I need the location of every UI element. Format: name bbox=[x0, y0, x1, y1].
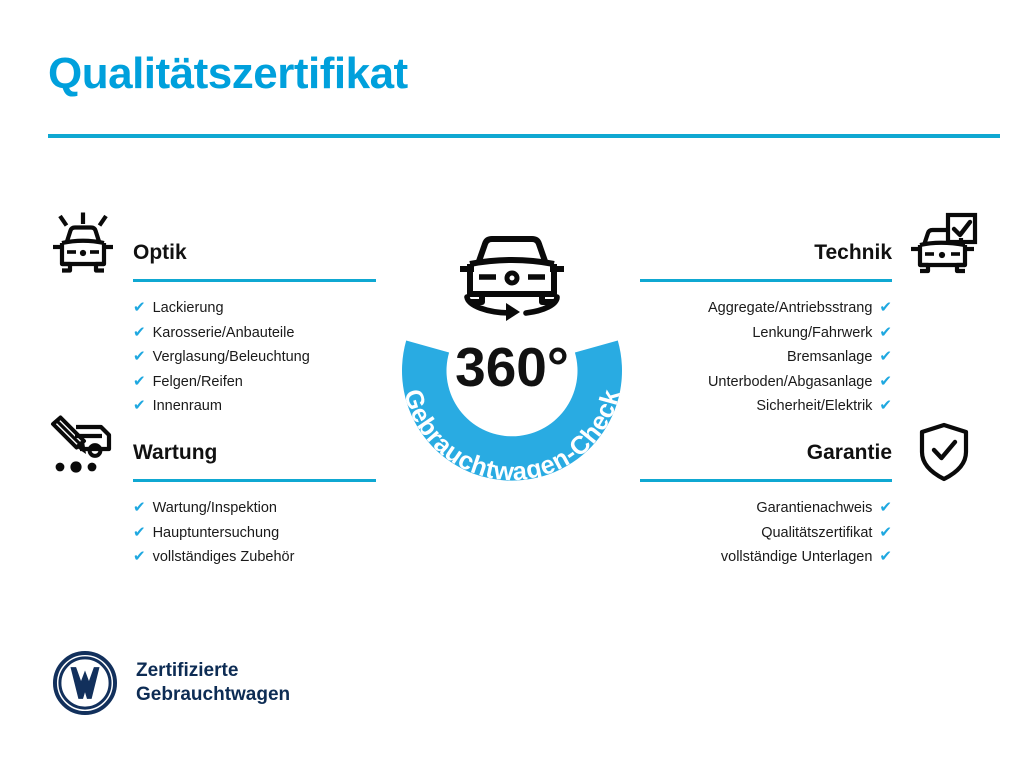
section-title-optik: Optik bbox=[133, 238, 376, 268]
section-divider-wartung bbox=[133, 479, 376, 482]
list-item-label: Wartung/Inspektion bbox=[153, 497, 277, 521]
brand-line-2: Gebrauchtwagen bbox=[136, 683, 290, 707]
checklist-technik: Aggregate/Antriebsstrang ✔ Lenkung/Fahrw… bbox=[640, 296, 892, 419]
check-icon: ✔ bbox=[879, 345, 892, 369]
check-icon: ✔ bbox=[879, 370, 892, 394]
list-item: ✔ Wartung/Inspektion bbox=[133, 496, 376, 521]
check-icon: ✔ bbox=[879, 545, 892, 569]
section-divider-optik bbox=[133, 279, 376, 282]
check-icon: ✔ bbox=[133, 345, 146, 369]
check-icon: ✔ bbox=[133, 296, 146, 320]
certificate-page: Qualitätszertifikat bbox=[0, 0, 1024, 768]
list-item: Lenkung/Fahrwerk ✔ bbox=[640, 321, 892, 346]
check-icon: ✔ bbox=[879, 521, 892, 545]
list-item: Qualitätszertifikat ✔ bbox=[640, 521, 892, 546]
page-title: Qualitätszertifikat bbox=[48, 50, 408, 98]
list-item: Garantienachweis ✔ bbox=[640, 496, 892, 521]
badge-center-label: 360° bbox=[455, 336, 569, 398]
list-item: ✔ Hauptuntersuchung bbox=[133, 521, 376, 546]
check-icon: ✔ bbox=[133, 545, 146, 569]
list-item: ✔ Verglasung/Beleuchtung bbox=[133, 345, 376, 370]
checklist-optik: ✔ Lackierung ✔ Karosserie/Anbauteile ✔ V… bbox=[133, 296, 376, 419]
list-item: ✔ Karosserie/Anbauteile bbox=[133, 321, 376, 346]
check-icon: ✔ bbox=[133, 394, 146, 418]
check-icon: ✔ bbox=[133, 496, 146, 520]
checklist-wartung: ✔ Wartung/Inspektion ✔ Hauptuntersuchung… bbox=[133, 496, 376, 570]
list-item-label: Lackierung bbox=[153, 297, 224, 321]
section-title-garantie: Garantie bbox=[640, 438, 892, 468]
checklist-garantie: Garantienachweis ✔ Qualitätszertifikat ✔… bbox=[640, 496, 892, 570]
section-garantie: Garantie Garantienachweis ✔ Qualitätszer… bbox=[640, 438, 892, 570]
car-rotate-icon bbox=[460, 239, 564, 321]
list-item: ✔ vollständiges Zubehör bbox=[133, 545, 376, 570]
section-divider-technik bbox=[640, 279, 892, 282]
section-title-wartung: Wartung bbox=[133, 438, 376, 468]
list-item: ✔ Felgen/Reifen bbox=[133, 370, 376, 395]
list-item-label: Qualitätszertifikat bbox=[761, 522, 872, 546]
check-icon: ✔ bbox=[879, 321, 892, 345]
section-divider-garantie bbox=[640, 479, 892, 482]
check-icon: ✔ bbox=[133, 321, 146, 345]
brand-wordmark: Zertifizierte Gebrauchtwagen bbox=[136, 659, 290, 707]
vw-certified-logo: Zertifizierte Gebrauchtwagen bbox=[52, 650, 290, 716]
check-icon: ✔ bbox=[879, 296, 892, 320]
list-item-label: Verglasung/Beleuchtung bbox=[153, 346, 310, 370]
list-item-label: Lenkung/Fahrwerk bbox=[752, 322, 872, 346]
list-item: Aggregate/Antriebsstrang ✔ bbox=[640, 296, 892, 321]
check-icon: ✔ bbox=[133, 521, 146, 545]
list-item-label: Felgen/Reifen bbox=[153, 371, 243, 395]
section-header-wartung: Wartung bbox=[133, 438, 376, 482]
section-header-garantie: Garantie bbox=[640, 438, 892, 482]
title-divider bbox=[48, 134, 1000, 138]
check-icon: ✔ bbox=[133, 370, 146, 394]
badge-360-gebrauchtwagen-check: Gebrauchtwagen-Check 360° bbox=[376, 198, 648, 498]
list-item-label: Aggregate/Antriebsstrang bbox=[708, 297, 872, 321]
section-wartung: Wartung ✔ Wartung/Inspektion ✔ Hauptunte… bbox=[133, 438, 376, 570]
list-item: vollständige Unterlagen ✔ bbox=[640, 545, 892, 570]
list-item: ✔ Innenraum bbox=[133, 394, 376, 419]
vw-logo-icon bbox=[52, 650, 118, 716]
list-item-label: Karosserie/Anbauteile bbox=[153, 322, 295, 346]
list-item-label: vollständiges Zubehör bbox=[153, 546, 295, 570]
section-optik: Optik ✔ Lackierung ✔ Karosserie/Anbautei… bbox=[133, 238, 376, 419]
list-item: Unterboden/Abgasanlage ✔ bbox=[640, 370, 892, 395]
section-technik: Technik Aggregate/Antriebsstrang ✔ Lenku… bbox=[640, 238, 892, 419]
shield-check-icon bbox=[918, 422, 970, 487]
check-icon: ✔ bbox=[879, 496, 892, 520]
car-checkbox-icon bbox=[910, 212, 978, 283]
list-item-label: Unterboden/Abgasanlage bbox=[708, 371, 872, 395]
car-shine-icon bbox=[48, 212, 118, 283]
list-item-label: Bremsanlage bbox=[787, 346, 872, 370]
list-item-label: Sicherheit/Elektrik bbox=[756, 395, 872, 419]
section-title-technik: Technik bbox=[640, 238, 892, 268]
brand-line-1: Zertifizierte bbox=[136, 659, 290, 683]
section-header-optik: Optik bbox=[133, 238, 376, 282]
section-header-technik: Technik bbox=[640, 238, 892, 282]
list-item: Bremsanlage ✔ bbox=[640, 345, 892, 370]
list-item: Sicherheit/Elektrik ✔ bbox=[640, 394, 892, 419]
list-item-label: Innenraum bbox=[153, 395, 222, 419]
list-item-label: Garantienachweis bbox=[756, 497, 872, 521]
check-icon: ✔ bbox=[879, 394, 892, 418]
list-item-label: vollständige Unterlagen bbox=[721, 546, 873, 570]
list-item: ✔ Lackierung bbox=[133, 296, 376, 321]
list-item-label: Hauptuntersuchung bbox=[153, 522, 280, 546]
car-service-pencil-icon bbox=[46, 414, 120, 481]
